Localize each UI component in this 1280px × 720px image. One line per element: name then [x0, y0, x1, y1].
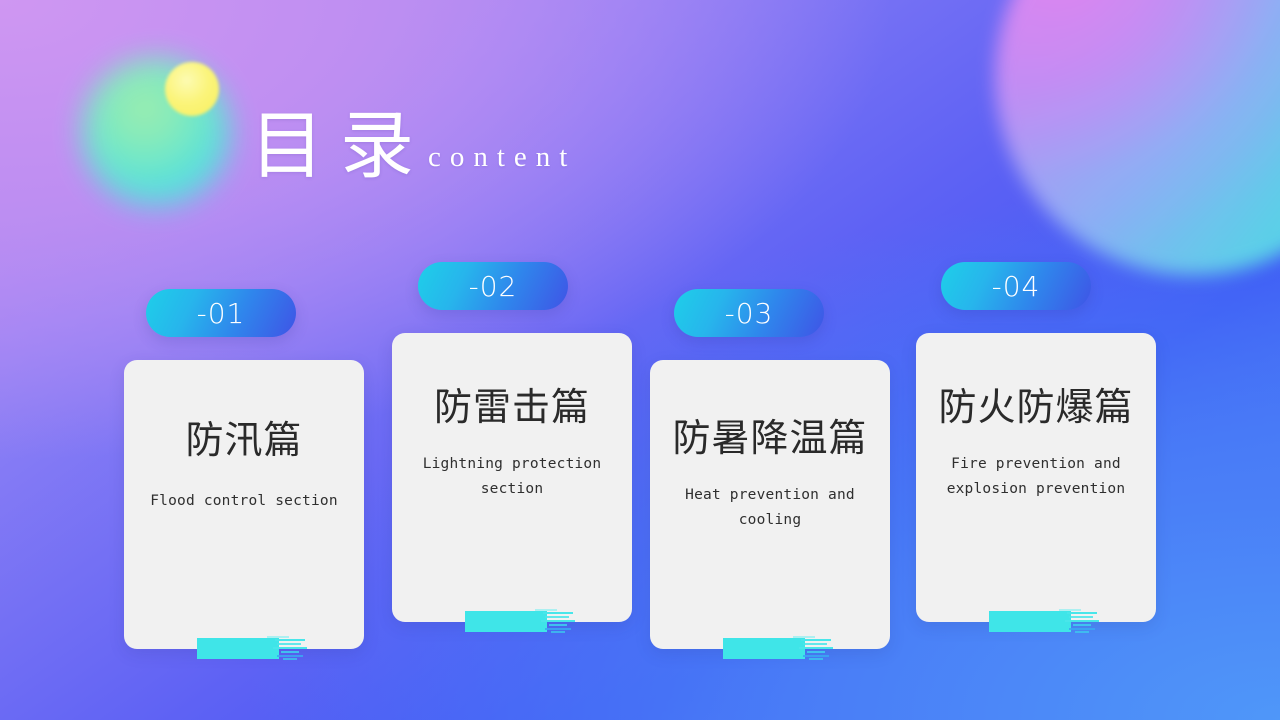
item-title-en: Heat prevention and cooling: [667, 483, 873, 534]
content-item-04[interactable]: -04 防火防爆篇 Fire prevention and explosion …: [916, 262, 1156, 622]
item-card[interactable]: 防雷击篇 Lightning protection section: [392, 333, 632, 622]
item-number-badge: -01: [146, 289, 296, 337]
brush-stroke-accent: [197, 636, 309, 661]
item-card[interactable]: 防暑降温篇 Heat prevention and cooling: [650, 360, 890, 649]
item-number-label: -04: [992, 270, 1041, 303]
item-number-badge: -04: [941, 262, 1091, 310]
item-title-cn: 防汛篇: [138, 418, 350, 463]
item-title-cn: 防暑降温篇: [664, 416, 876, 461]
item-number-label: -03: [725, 297, 774, 330]
item-title-cn: 防雷击篇: [406, 385, 618, 430]
slide-canvas: 目录 content -01 防汛篇 Flood control section: [0, 0, 1280, 720]
item-title-en: Fire prevention and explosion prevention: [933, 452, 1139, 503]
brush-stroke-accent: [465, 609, 577, 634]
item-title-cn: 防火防爆篇: [930, 385, 1142, 430]
item-number-badge: -03: [674, 289, 824, 337]
content-item-01[interactable]: -01 防汛篇 Flood control section: [124, 289, 364, 649]
brush-stroke-accent: [989, 609, 1101, 634]
item-card[interactable]: 防汛篇 Flood control section: [124, 360, 364, 649]
content-item-02[interactable]: -02 防雷击篇 Lightning protection section: [392, 262, 632, 622]
brush-stroke-accent: [723, 636, 835, 661]
item-card[interactable]: 防火防爆篇 Fire prevention and explosion prev…: [916, 333, 1156, 622]
content-list: -01 防汛篇 Flood control section: [0, 0, 1280, 720]
item-number-label: -01: [197, 297, 246, 330]
item-title-en: Lightning protection section: [409, 452, 615, 503]
item-title-en: Flood control section: [141, 489, 347, 514]
item-number-label: -02: [469, 270, 518, 303]
item-number-badge: -02: [418, 262, 568, 310]
content-item-03[interactable]: -03 防暑降温篇 Heat prevention and cooling: [650, 289, 890, 649]
